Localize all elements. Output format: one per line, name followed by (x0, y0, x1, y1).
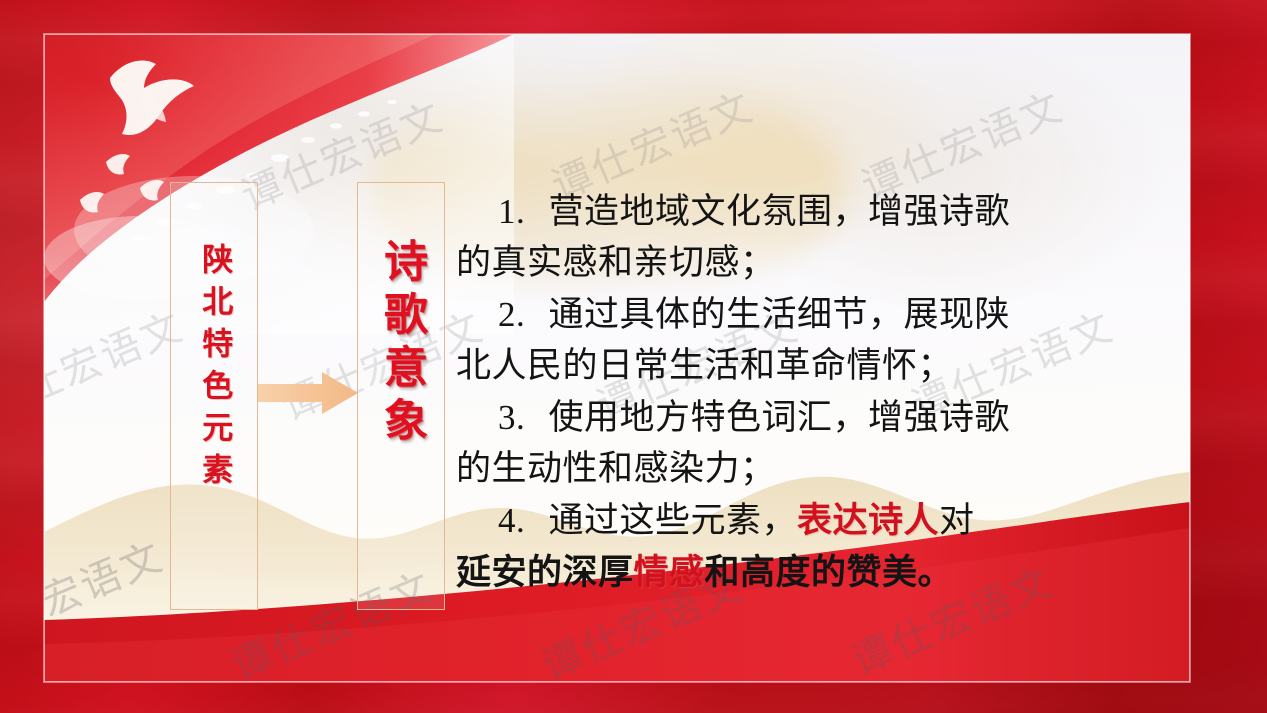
source-element-label: 陕北特色元素 (196, 243, 233, 495)
list-item: 1. 营造地域文化氛围，增强诗歌 (456, 186, 1162, 238)
item-line-1-post: 对 (939, 501, 975, 541)
item-line-2: 的生动性和感染力； (456, 449, 776, 489)
source-element-box[interactable]: 陕北特色元素 (170, 182, 258, 610)
list-item-continued: 的生动性和感染力； (456, 444, 1162, 495)
right-arrow-icon (258, 370, 358, 416)
list-item-continued: 北人民的日常生活和革命情怀； (456, 341, 1162, 392)
item-line-2-post: 和高度的赞美。 (705, 552, 954, 593)
item-line-1-pre: 通过这些元素， (549, 501, 798, 541)
slide-canvas: 谭仕宏语文 谭仕宏语文 谭仕宏语文 谭仕宏语文 谭仕宏语文 谭仕宏语文 谭仕宏语… (44, 34, 1190, 682)
item-number: 3. (498, 398, 525, 437)
item-line-1: 使用地方特色词汇，增强诗歌 (549, 398, 1011, 438)
item-line-2-pre: 延安的深厚 (456, 552, 634, 593)
item-line-2: 北人民的日常生活和革命情怀； (456, 346, 953, 386)
list-item-continued: 延安的深厚情感和高度的赞美。 (456, 547, 1162, 598)
item-line-2-highlight: 情感 (634, 552, 705, 593)
item-line-1-highlight: 表达诗人 (797, 500, 939, 541)
list-item: 4. 通过这些元素，表达诗人对 (456, 495, 1162, 547)
watermark: 谭仕宏语文 (44, 524, 172, 661)
list-item: 2. 通过具体的生活细节，展现陕 (456, 289, 1162, 341)
item-line-2: 的真实感和亲切感； (456, 243, 776, 283)
item-number: 1. (498, 192, 525, 231)
list-item: 3. 使用地方特色词汇，增强诗歌 (456, 392, 1162, 444)
target-concept-label: 诗歌意象 (375, 238, 427, 450)
slide-root: 谭仕宏语文 谭仕宏语文 谭仕宏语文 谭仕宏语文 谭仕宏语文 谭仕宏语文 谭仕宏语… (0, 0, 1267, 713)
list-item-continued: 的真实感和亲切感； (456, 238, 1162, 289)
content-list: 1. 营造地域文化氛围，增强诗歌 的真实感和亲切感； 2. 通过具体的生活细节，… (456, 186, 1162, 598)
item-number: 4. (498, 501, 525, 540)
item-number: 2. (498, 295, 525, 334)
target-concept-box[interactable]: 诗歌意象 (357, 182, 445, 610)
item-line-1: 通过具体的生活细节，展现陕 (549, 295, 1011, 335)
item-line-1: 营造地域文化氛围，增强诗歌 (549, 192, 1011, 232)
